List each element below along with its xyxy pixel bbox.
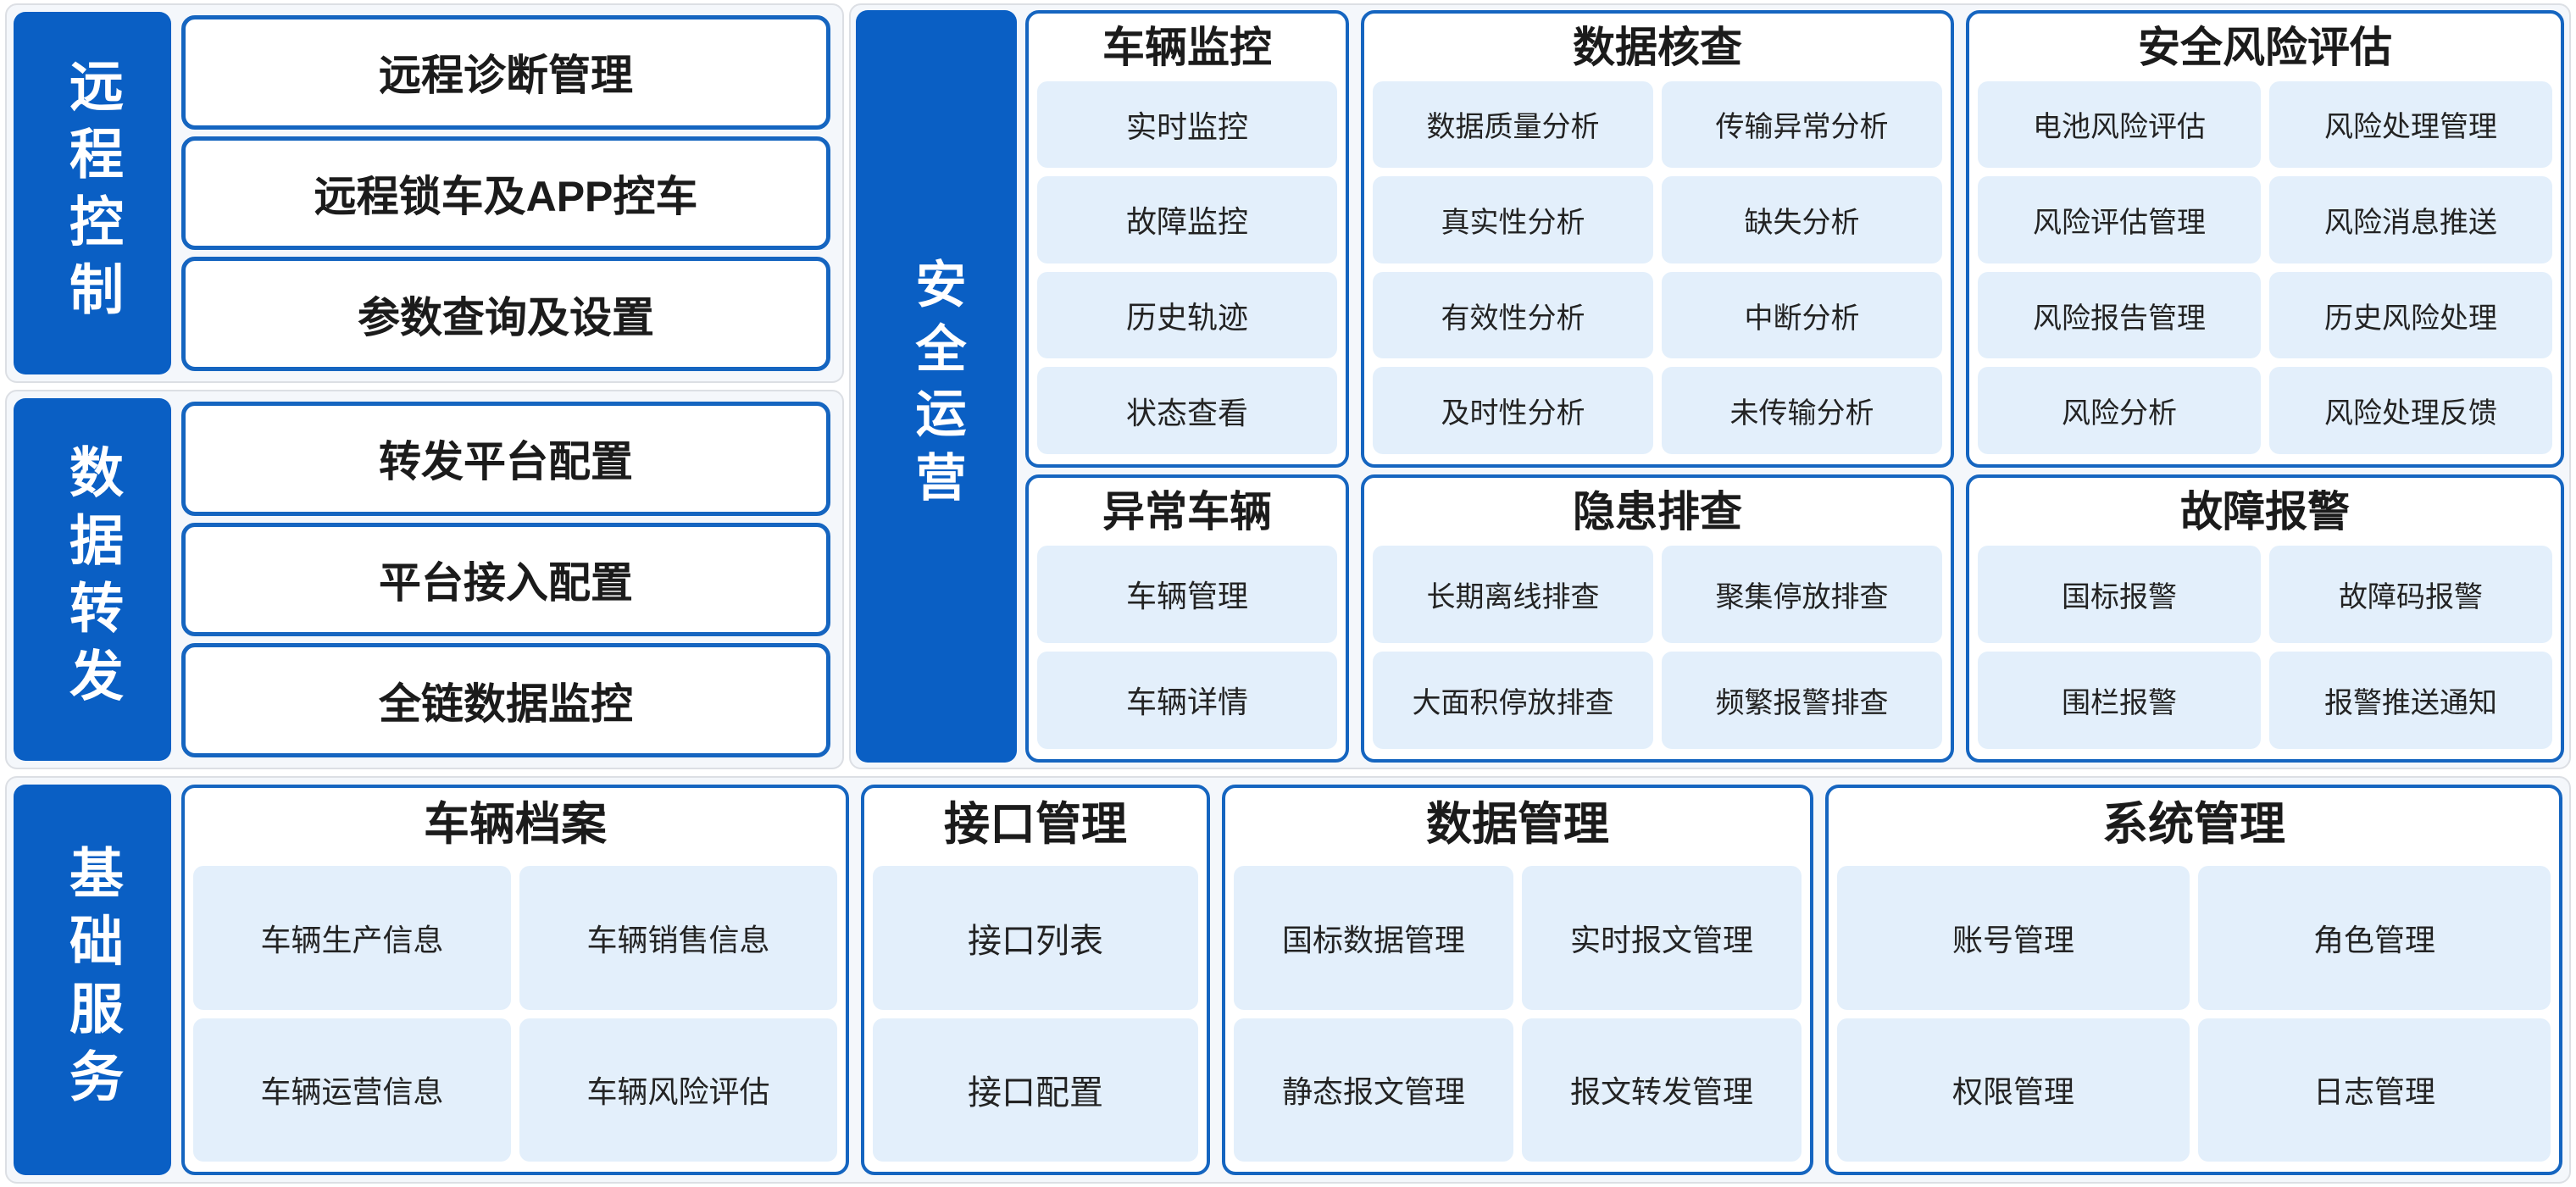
pill-vehicle-monitor-3[interactable]: 状态查看 [1037, 367, 1337, 454]
pill-hazard-3[interactable]: 频繁报警排查 [1662, 652, 1942, 749]
card-fault-alarm: 故障报警 国标报警 故障码报警 围栏报警 报警推送通知 [1966, 474, 2564, 763]
pill-fault-alarm-2[interactable]: 围栏报警 [1978, 652, 2261, 749]
card-title-api-management: 接口管理 [873, 793, 1198, 866]
band-label-basic-service: 基础服务 [65, 845, 119, 1116]
card-system-management: 系统管理 账号管理 角色管理 权限管理 日志管理 [1825, 785, 2562, 1175]
card-vehicle-archive: 车辆档案 车辆生产信息 车辆销售信息 车辆运营信息 车辆风险评估 [181, 785, 849, 1175]
band-safe-operation: 安全运营 [856, 10, 1017, 763]
pill-data-verification-1[interactable]: 传输异常分析 [1662, 81, 1942, 169]
system-architecture-diagram: 远程控制 远程诊断管理 远程锁车及APP控车 参数查询及设置 数据转发 转发平台… [0, 0, 2576, 1187]
pill-safety-risk-2[interactable]: 风险评估管理 [1978, 176, 2261, 263]
panel-remote-control: 远程控制 远程诊断管理 远程锁车及APP控车 参数查询及设置 [5, 3, 844, 383]
pill-api-management-1[interactable]: 接口配置 [873, 1018, 1198, 1162]
safe-operation-row-bottom: 异常车辆 车辆管理 车辆详情 隐患排查 长期离线排查 聚集停放排查 大面积停放排… [1025, 474, 2564, 763]
card-items-fault-alarm: 国标报警 故障码报警 围栏报警 报警推送通知 [1978, 546, 2552, 750]
pill-safety-risk-4[interactable]: 风险报告管理 [1978, 272, 2261, 359]
card-title-vehicle-archive: 车辆档案 [193, 793, 837, 866]
pill-vehicle-archive-3[interactable]: 车辆风险评估 [519, 1018, 837, 1162]
pill-fault-alarm-0[interactable]: 国标报警 [1978, 546, 2261, 643]
panel-basic-service: 基础服务 车辆档案 车辆生产信息 车辆销售信息 车辆运营信息 车辆风险评估 接口… [5, 776, 2571, 1184]
pill-hazard-0[interactable]: 长期离线排查 [1373, 546, 1653, 643]
panel-safe-operation: 安全运营 车辆监控 实时监控 故障监控 历史轨迹 状态查看 数据核查 [849, 3, 2571, 769]
card-items-api-management: 接口列表 接口配置 [873, 866, 1198, 1162]
pill-abnormal-vehicle-1[interactable]: 车辆详情 [1037, 652, 1337, 749]
pill-safety-risk-0[interactable]: 电池风险评估 [1978, 81, 2261, 169]
card-hazard-investigation: 隐患排查 长期离线排查 聚集停放排查 大面积停放排查 频繁报警排查 [1361, 474, 1954, 763]
card-title-safety-risk-assessment: 安全风险评估 [1978, 19, 2552, 81]
pill-system-management-2[interactable]: 权限管理 [1837, 1018, 2190, 1162]
card-items-vehicle-monitor: 实时监控 故障监控 历史轨迹 状态查看 [1037, 81, 1337, 455]
pill-safety-risk-1[interactable]: 风险处理管理 [2269, 81, 2552, 169]
pill-data-verification-6[interactable]: 及时性分析 [1373, 367, 1653, 454]
pill-safety-risk-3[interactable]: 风险消息推送 [2269, 176, 2552, 263]
pill-vehicle-monitor-2[interactable]: 历史轨迹 [1037, 272, 1337, 359]
data-forward-item-0[interactable]: 转发平台配置 [181, 402, 830, 516]
pill-vehicle-monitor-1[interactable]: 故障监控 [1037, 176, 1337, 263]
remote-control-item-1[interactable]: 远程锁车及APP控车 [181, 136, 830, 251]
card-title-data-management: 数据管理 [1234, 793, 1802, 866]
card-api-management: 接口管理 接口列表 接口配置 [861, 785, 1210, 1175]
safe-operation-card-area: 车辆监控 实时监控 故障监控 历史轨迹 状态查看 数据核查 数据质量分析 传输异… [1025, 10, 2564, 763]
remote-control-item-0[interactable]: 远程诊断管理 [181, 15, 830, 130]
data-forward-item-list: 转发平台配置 平台接入配置 全链数据监控 [180, 398, 836, 761]
panel-data-forward: 数据转发 转发平台配置 平台接入配置 全链数据监控 [5, 390, 844, 769]
pill-vehicle-archive-0[interactable]: 车辆生产信息 [193, 866, 511, 1009]
pill-hazard-2[interactable]: 大面积停放排查 [1373, 652, 1653, 749]
pill-data-verification-7[interactable]: 未传输分析 [1662, 367, 1942, 454]
band-label-safe-operation: 安全运营 [911, 258, 962, 515]
band-data-forward: 数据转发 [14, 398, 171, 761]
card-title-hazard-investigation: 隐患排查 [1373, 483, 1942, 546]
card-items-vehicle-archive: 车辆生产信息 车辆销售信息 车辆运营信息 车辆风险评估 [193, 866, 837, 1162]
pill-data-management-3[interactable]: 报文转发管理 [1522, 1018, 1802, 1162]
pill-vehicle-monitor-0[interactable]: 实时监控 [1037, 81, 1337, 169]
pill-data-management-2[interactable]: 静态报文管理 [1234, 1018, 1513, 1162]
remote-control-item-2[interactable]: 参数查询及设置 [181, 257, 830, 371]
card-title-vehicle-monitor: 车辆监控 [1037, 19, 1337, 81]
card-data-verification: 数据核查 数据质量分析 传输异常分析 真实性分析 缺失分析 有效性分析 中断分析… [1361, 10, 1954, 468]
card-items-data-management: 国标数据管理 实时报文管理 静态报文管理 报文转发管理 [1234, 866, 1802, 1162]
pill-data-management-1[interactable]: 实时报文管理 [1522, 866, 1802, 1009]
pill-hazard-1[interactable]: 聚集停放排查 [1662, 546, 1942, 643]
card-abnormal-vehicle: 异常车辆 车辆管理 车辆详情 [1025, 474, 1349, 763]
card-items-hazard-investigation: 长期离线排查 聚集停放排查 大面积停放排查 频繁报警排查 [1373, 546, 1942, 750]
band-remote-control: 远程控制 [14, 12, 171, 374]
pill-data-verification-5[interactable]: 中断分析 [1662, 272, 1942, 359]
pill-data-verification-2[interactable]: 真实性分析 [1373, 176, 1653, 263]
card-items-data-verification: 数据质量分析 传输异常分析 真实性分析 缺失分析 有效性分析 中断分析 及时性分… [1373, 81, 1942, 455]
band-label-remote-control: 远程控制 [65, 58, 119, 329]
card-safety-risk-assessment: 安全风险评估 电池风险评估 风险处理管理 风险评估管理 风险消息推送 风险报告管… [1966, 10, 2564, 468]
safe-operation-row-top: 车辆监控 实时监控 故障监控 历史轨迹 状态查看 数据核查 数据质量分析 传输异… [1025, 10, 2564, 468]
card-items-safety-risk-assessment: 电池风险评估 风险处理管理 风险评估管理 风险消息推送 风险报告管理 历史风险处… [1978, 81, 2552, 455]
card-items-abnormal-vehicle: 车辆管理 车辆详情 [1037, 546, 1337, 750]
card-data-management: 数据管理 国标数据管理 实时报文管理 静态报文管理 报文转发管理 [1222, 785, 1813, 1175]
pill-fault-alarm-3[interactable]: 报警推送通知 [2269, 652, 2552, 749]
data-forward-item-1[interactable]: 平台接入配置 [181, 523, 830, 637]
pill-safety-risk-7[interactable]: 风险处理反馈 [2269, 367, 2552, 454]
pill-data-management-0[interactable]: 国标数据管理 [1234, 866, 1513, 1009]
card-title-abnormal-vehicle: 异常车辆 [1037, 483, 1337, 546]
remote-control-item-list: 远程诊断管理 远程锁车及APP控车 参数查询及设置 [180, 12, 836, 374]
pill-system-management-1[interactable]: 角色管理 [2198, 866, 2551, 1009]
pill-abnormal-vehicle-0[interactable]: 车辆管理 [1037, 546, 1337, 643]
pill-safety-risk-6[interactable]: 风险分析 [1978, 367, 2261, 454]
pill-vehicle-archive-1[interactable]: 车辆销售信息 [519, 866, 837, 1009]
pill-data-verification-4[interactable]: 有效性分析 [1373, 272, 1653, 359]
band-label-data-forward: 数据转发 [65, 444, 119, 715]
pill-system-management-0[interactable]: 账号管理 [1837, 866, 2190, 1009]
card-title-system-management: 系统管理 [1837, 793, 2551, 866]
pill-vehicle-archive-2[interactable]: 车辆运营信息 [193, 1018, 511, 1162]
pill-safety-risk-5[interactable]: 历史风险处理 [2269, 272, 2552, 359]
card-items-system-management: 账号管理 角色管理 权限管理 日志管理 [1837, 866, 2551, 1162]
pill-system-management-3[interactable]: 日志管理 [2198, 1018, 2551, 1162]
pill-data-verification-0[interactable]: 数据质量分析 [1373, 81, 1653, 169]
pill-fault-alarm-1[interactable]: 故障码报警 [2269, 546, 2552, 643]
card-title-fault-alarm: 故障报警 [1978, 483, 2552, 546]
data-forward-item-2[interactable]: 全链数据监控 [181, 643, 830, 757]
card-vehicle-monitor: 车辆监控 实时监控 故障监控 历史轨迹 状态查看 [1025, 10, 1349, 468]
band-basic-service: 基础服务 [14, 785, 171, 1175]
pill-data-verification-3[interactable]: 缺失分析 [1662, 176, 1942, 263]
basic-service-card-area: 车辆档案 车辆生产信息 车辆销售信息 车辆运营信息 车辆风险评估 接口管理 接口… [181, 785, 2562, 1175]
pill-api-management-0[interactable]: 接口列表 [873, 866, 1198, 1009]
card-title-data-verification: 数据核查 [1373, 19, 1942, 81]
